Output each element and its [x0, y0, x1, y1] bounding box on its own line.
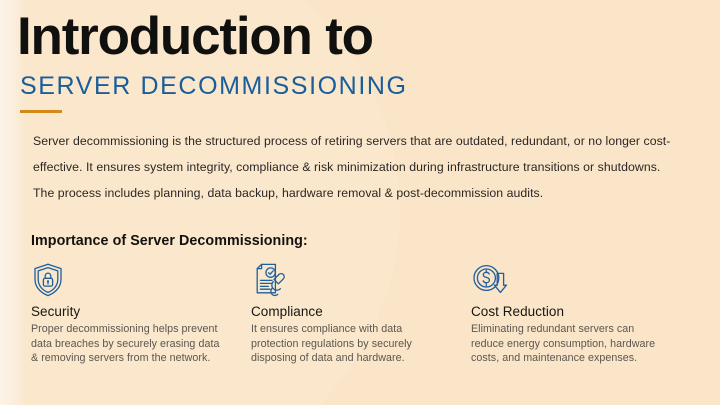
section-heading: Importance of Server Decommissioning: [31, 233, 308, 249]
slide-content: Introduction to SERVER DECOMMISSIONING S… [0, 0, 720, 405]
feature-title: Cost Reduction [471, 304, 669, 319]
feature-item-security: Security Proper decommissioning helps pr… [31, 262, 251, 366]
feature-list: Security Proper decommissioning helps pr… [31, 262, 691, 366]
feature-item-compliance: Compliance It ensures compliance with da… [251, 262, 471, 366]
page-title: Introduction to [17, 8, 373, 66]
feature-body: Eliminating redundant servers can reduce… [471, 322, 669, 366]
document-stamp-icon [251, 262, 449, 298]
feature-title: Compliance [251, 304, 449, 319]
page-subtitle: SERVER DECOMMISSIONING [20, 72, 408, 100]
title-divider-rule [20, 110, 62, 113]
feature-body: It ensures compliance with data protecti… [251, 322, 449, 366]
intro-paragraph: Server decommissioning is the structured… [33, 128, 681, 206]
shield-lock-icon [31, 262, 229, 298]
feature-body: Proper decommissioning helps prevent dat… [31, 322, 229, 366]
feature-title: Security [31, 304, 229, 319]
feature-item-cost-reduction: Cost Reduction Eliminating redundant ser… [471, 262, 691, 366]
slide-canvas: Introduction to SERVER DECOMMISSIONING S… [0, 0, 720, 405]
cost-down-arrow-icon [471, 262, 669, 298]
